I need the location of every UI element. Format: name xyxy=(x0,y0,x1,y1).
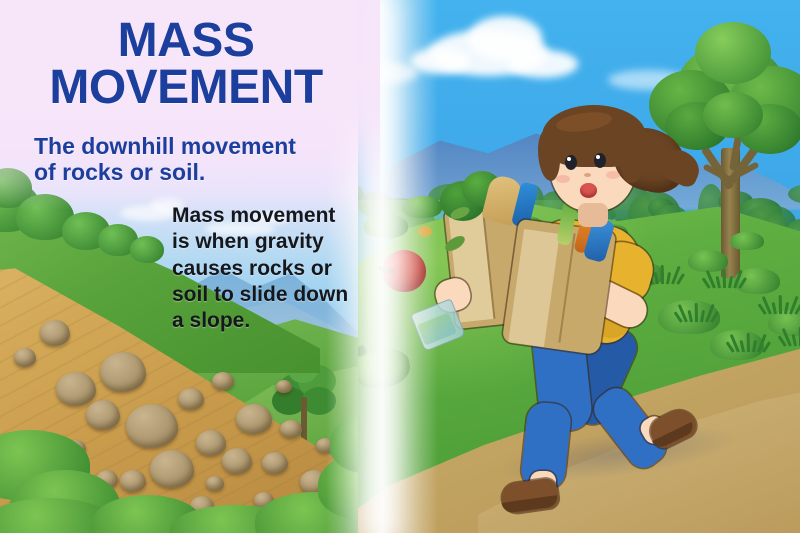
boulder xyxy=(40,320,70,346)
grass-tuft xyxy=(730,326,770,352)
boulder xyxy=(100,352,146,392)
boulder xyxy=(206,476,224,491)
boulder xyxy=(126,404,178,448)
boulder xyxy=(120,470,146,492)
boulder xyxy=(86,400,120,430)
girl-side-hair xyxy=(538,129,560,181)
boulder xyxy=(196,430,226,456)
body-line-2: is when gravity xyxy=(172,229,372,255)
body-paragraph: Mass movement is when gravity causes roc… xyxy=(172,203,372,334)
body-line-1: Mass movement xyxy=(172,203,372,229)
subtitle-line-2: of rocks or soil. xyxy=(34,159,364,185)
girl-eye-shine xyxy=(596,155,600,159)
boulder xyxy=(276,380,292,393)
grass-tuft xyxy=(782,320,800,346)
title-line-2: MOVEMENT xyxy=(0,65,372,112)
bush xyxy=(730,232,764,250)
boulder xyxy=(212,372,234,390)
boulder xyxy=(236,404,272,434)
boulder xyxy=(56,372,96,406)
page-title: MASS MOVEMENT xyxy=(0,18,372,111)
mass-movement-poster: MASS MOVEMENT The downhill movement of r… xyxy=(0,0,800,533)
falling-crumb xyxy=(418,226,432,237)
boulder xyxy=(262,452,288,474)
girl-neck xyxy=(578,203,608,227)
girl-blush xyxy=(556,175,570,183)
body-line-5: a slope. xyxy=(172,308,372,334)
girl-nose xyxy=(584,173,591,177)
boulder xyxy=(150,450,194,488)
boulder xyxy=(14,348,36,367)
girl-eye-shine xyxy=(567,157,571,161)
boulder xyxy=(178,388,204,410)
cloud-icon xyxy=(508,50,578,78)
boulder xyxy=(280,420,302,438)
girl-open-mouth xyxy=(580,183,597,198)
subtitle: The downhill movement of rocks or soil. xyxy=(34,133,364,185)
cloud-icon xyxy=(410,48,470,74)
body-line-4: soil to slide down xyxy=(172,282,372,308)
subtitle-line-1: The downhill movement xyxy=(34,133,364,159)
title-line-1: MASS xyxy=(0,18,372,65)
girl-blush xyxy=(606,171,620,179)
grass-tuft xyxy=(706,262,746,288)
running-girl xyxy=(428,95,708,495)
body-line-3: causes rocks or xyxy=(172,256,372,282)
boulder xyxy=(222,448,252,474)
right-illustration-girl xyxy=(358,0,800,533)
grass-tuft xyxy=(762,288,800,314)
